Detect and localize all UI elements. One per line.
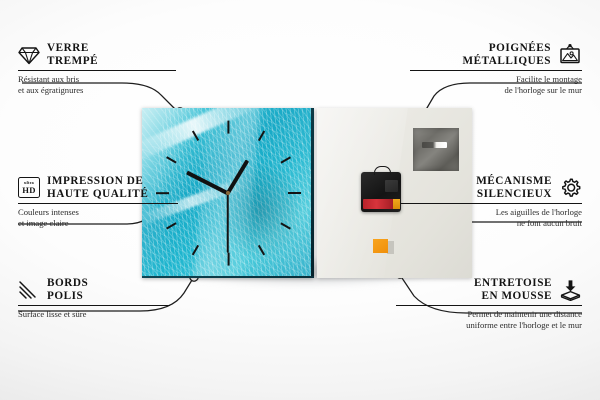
foam-spacer-shadow: [387, 241, 394, 254]
clock-movement-mechanism: [361, 172, 401, 212]
metal-hanger-bracket: [413, 128, 459, 171]
callout-impression-haute-qualite: ultra HD IMPRESSION DE HAUTE QUALITÉ Cou…: [18, 175, 194, 228]
callout-rule: [18, 305, 170, 306]
callout-subtitle-line2: uniforme entre l'horloge et le mur: [396, 320, 582, 330]
diagonal-lines-icon: [18, 280, 40, 300]
callout-entretoise-en-mousse: ENTRETOISE EN MOUSSE Permet de maintenir…: [396, 277, 582, 330]
glass-edge-right: [311, 108, 314, 278]
clock-second-hand: [227, 193, 229, 253]
clock-center-cap: [226, 191, 230, 195]
callout-title-line1: POIGNÉES: [462, 42, 551, 55]
callout-title-line2: POLIS: [47, 290, 88, 303]
ultra-hd-icon: ultra HD: [18, 177, 40, 198]
callout-title-line2: HAUTE QUALITÉ: [47, 188, 148, 201]
battery: [363, 199, 395, 209]
glass-glint-1: [142, 108, 260, 162]
callout-title-line1: BORDS: [47, 277, 88, 290]
arrow-onto-layers-icon: [559, 279, 582, 301]
callout-mecanisme-silencieux: MÉCANISME SILENCIEUX Les aiguilles de l'…: [400, 175, 582, 228]
mechanism-housing-detail: [385, 180, 398, 192]
battery-terminal: [393, 199, 400, 209]
callout-title-line1: VERRE: [47, 42, 98, 55]
callout-rule: [18, 203, 178, 204]
ultra-hd-icon-main-text: HD: [22, 186, 36, 195]
diamond-icon: [18, 45, 40, 65]
callout-subtitle-line1: Permet de maintenir une distance: [396, 309, 582, 319]
clock-hour-marker: [191, 245, 198, 255]
callout-subtitle-line1: Couleurs intenses: [18, 207, 194, 217]
clock-hour-marker: [166, 156, 176, 163]
callout-header: POIGNÉES MÉTALLIQUES: [410, 42, 582, 67]
clock-hour-marker: [257, 245, 264, 255]
callout-rule: [410, 70, 582, 71]
mechanism-hanger-loop: [374, 166, 391, 175]
callout-title-line2: SILENCIEUX: [476, 188, 552, 201]
callout-title-line1: MÉCANISME: [476, 175, 552, 188]
callout-rule: [396, 305, 582, 306]
callout-header: VERRE TREMPÉ: [18, 42, 186, 67]
clock-hour-marker: [280, 222, 290, 229]
foam-spacer: [373, 239, 388, 253]
clock-hour-marker: [280, 156, 290, 163]
callout-header: ultra HD IMPRESSION DE HAUTE QUALITÉ: [18, 175, 194, 200]
clock-hour-marker: [257, 131, 264, 141]
clock-hour-hand: [226, 159, 249, 194]
callout-subtitle-line2: de l'horloge sur le mur: [410, 85, 582, 95]
callout-subtitle-line1: Surface lisse et sûre: [18, 309, 186, 319]
callout-subtitle-line1: Facilite le montage: [410, 74, 582, 84]
framed-picture-icon: [558, 44, 582, 65]
infographic-canvas: VERRE TREMPÉ Résistant aux bris et aux é…: [0, 0, 600, 400]
callout-rule: [18, 70, 176, 71]
callout-rule: [400, 203, 582, 204]
callout-title-line2: MÉTALLIQUES: [462, 55, 551, 68]
clock-hour-marker: [227, 121, 229, 134]
callout-header: BORDS POLIS: [18, 277, 186, 302]
clock-hour-marker: [227, 253, 229, 266]
bracket-keyhole-slot: [422, 142, 447, 148]
clock-hour-marker: [288, 192, 301, 194]
callout-header: ENTRETOISE EN MOUSSE: [396, 277, 582, 302]
callout-subtitle-line2: ne font aucun bruit: [400, 218, 582, 228]
callout-title-line1: IMPRESSION DE: [47, 175, 148, 188]
callout-subtitle-line2: et aux égratignures: [18, 85, 186, 95]
callout-poignees-metalliques: POIGNÉES MÉTALLIQUES Facilite le montage…: [410, 42, 582, 95]
callout-title-line2: TREMPÉ: [47, 55, 98, 68]
gear-icon: [559, 177, 582, 199]
callout-bords-polis: BORDS POLIS Surface lisse et sûre: [18, 277, 186, 320]
clock-hour-marker: [191, 131, 198, 141]
callout-subtitle-line1: Les aiguilles de l'horloge: [400, 207, 582, 217]
callout-title-line1: ENTRETOISE: [474, 277, 552, 290]
callout-title-line2: EN MOUSSE: [474, 290, 552, 303]
callout-subtitle-line2: et image claire: [18, 218, 194, 228]
callout-verre-trempe: VERRE TREMPÉ Résistant aux bris et aux é…: [18, 42, 186, 95]
callout-header: MÉCANISME SILENCIEUX: [400, 175, 582, 200]
callout-subtitle-line1: Résistant aux bris: [18, 74, 186, 84]
